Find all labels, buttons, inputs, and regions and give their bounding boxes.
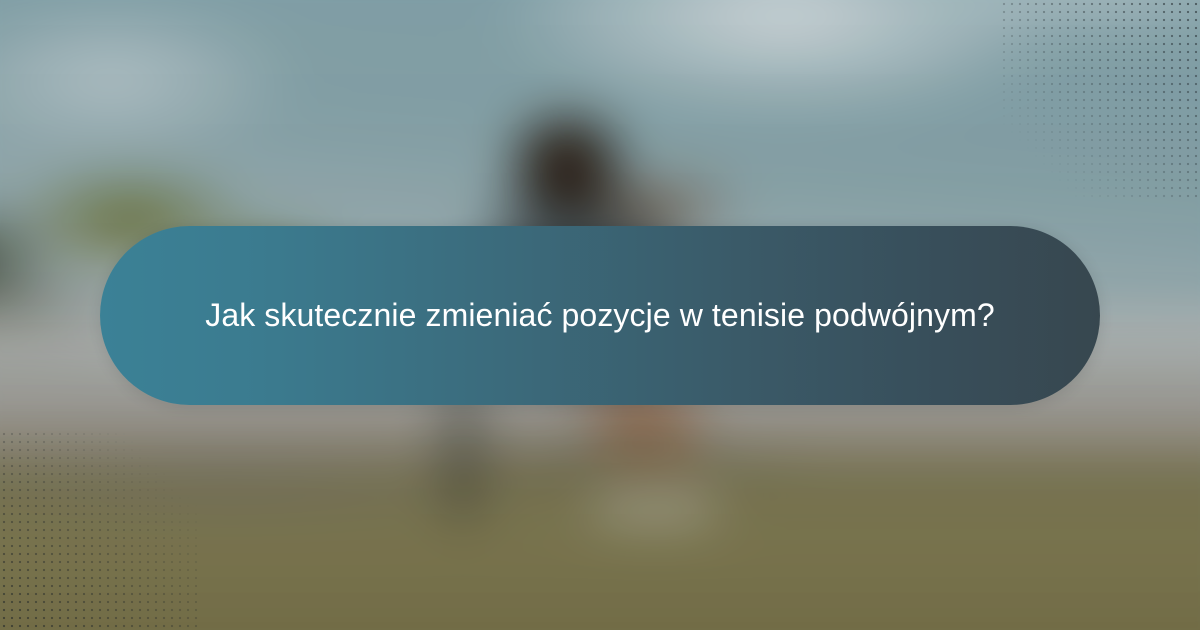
background-player-head [514,120,620,218]
banner-title: Jak skutecznie zmieniać pozycje w tenisi… [100,290,1100,342]
title-card: Jak skutecznie zmieniać pozycje w tenisi… [100,226,1100,405]
background-player-shoes [587,488,719,526]
banner-canvas: Jak skutecznie zmieniać pozycje w tenisi… [0,0,1200,630]
